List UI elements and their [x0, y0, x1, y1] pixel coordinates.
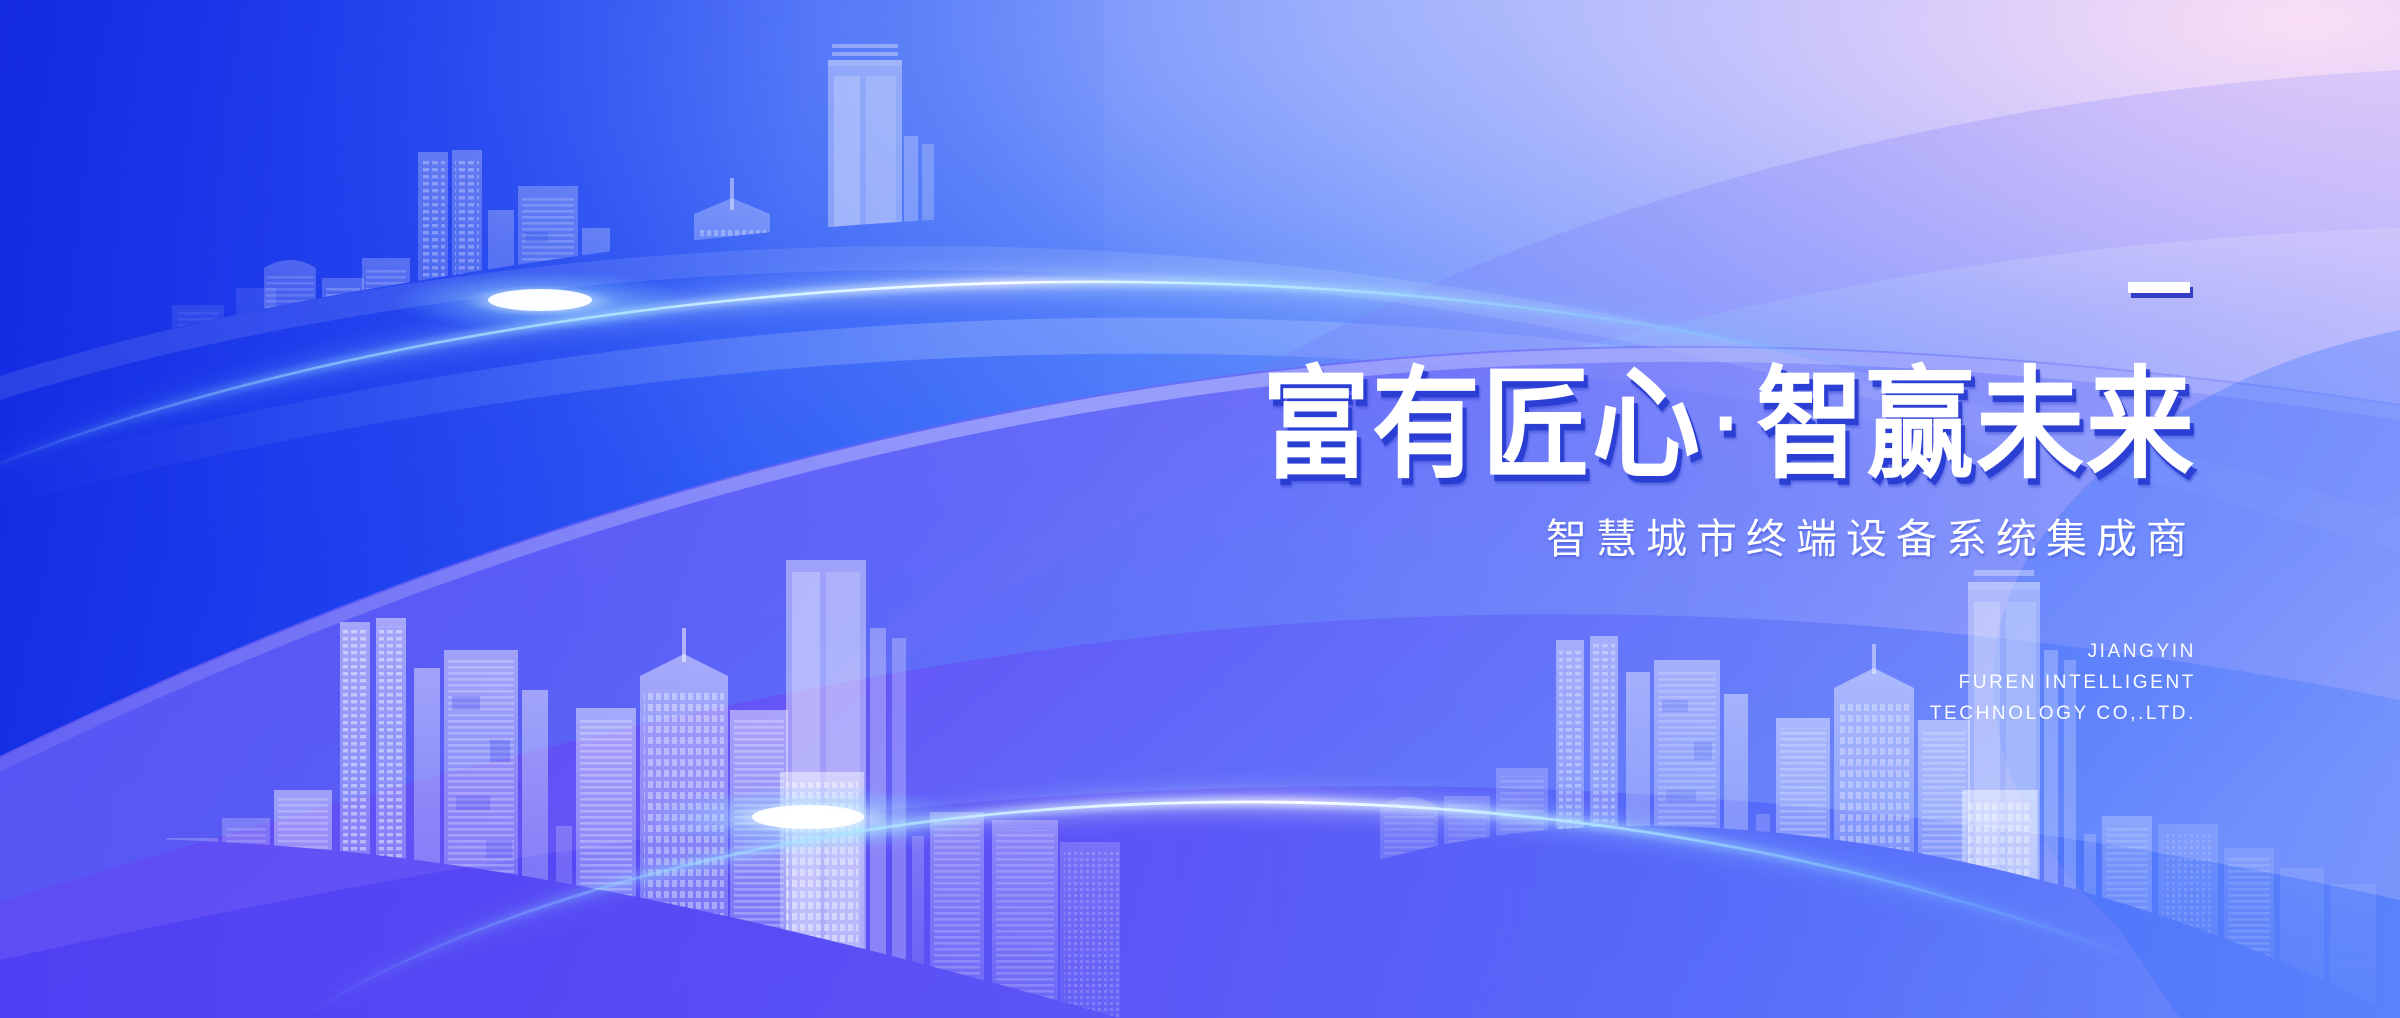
headline: 富有匠心·智赢未来 — [1056, 360, 2196, 491]
company-line-3: TECHNOLOGY CO,.LTD. — [1700, 699, 2196, 730]
headline-right: 智赢未来 — [1756, 357, 2196, 493]
decor-dash — [2128, 282, 2190, 293]
headline-left: 富有匠心 — [1262, 357, 1702, 493]
promotional-banner: 富有匠心·智赢未来 智慧城市终端设备系统集成商 JIANGYIN FUREN I… — [0, 0, 2400, 1018]
subtitle: 智慧城市终端设备系统集成商 — [1100, 515, 2196, 564]
headline-separator-dot: · — [1702, 370, 1756, 475]
company-line-2: FUREN INTELLIGENT — [1700, 668, 2196, 699]
company-name-english: JIANGYIN FUREN INTELLIGENT TECHNOLOGY CO… — [1700, 637, 2196, 729]
company-line-1: JIANGYIN — [1700, 637, 2196, 668]
text-content: 富有匠心·智赢未来 智慧城市终端设备系统集成商 JIANGYIN FUREN I… — [0, 0, 2400, 1018]
